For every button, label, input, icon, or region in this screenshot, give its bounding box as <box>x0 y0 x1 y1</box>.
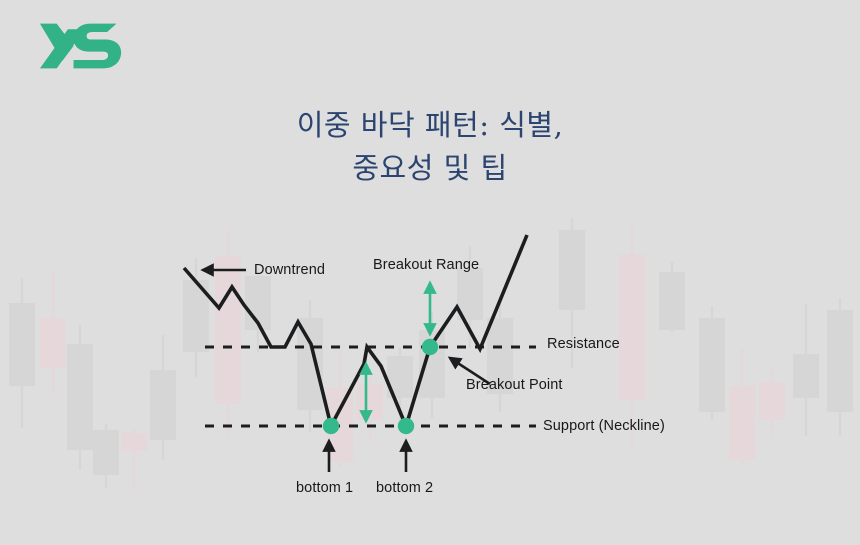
marker-dot-bottom-2[interactable] <box>398 418 414 434</box>
marker-dot-breakout-point[interactable] <box>422 339 438 355</box>
label-resistance: Resistance <box>547 336 620 352</box>
label-downtrend: Downtrend <box>254 262 325 278</box>
infographic-canvas: 이중 바닥 패턴: 식별, 중요성 및 팁 Downtrend Breakout… <box>0 0 860 545</box>
label-breakout-range: Breakout Range <box>373 257 479 273</box>
label-breakout-point: Breakout Point <box>466 377 563 393</box>
label-bottom-2: bottom 2 <box>376 480 433 496</box>
label-bottom-1: bottom 1 <box>296 480 353 496</box>
xs-logo[interactable] <box>36 18 126 74</box>
marker-dot-bottom-1[interactable] <box>323 418 339 434</box>
page-title: 이중 바닥 패턴: 식별, 중요성 및 팁 <box>0 104 860 190</box>
label-support-neckline: Support (Neckline) <box>543 418 665 434</box>
